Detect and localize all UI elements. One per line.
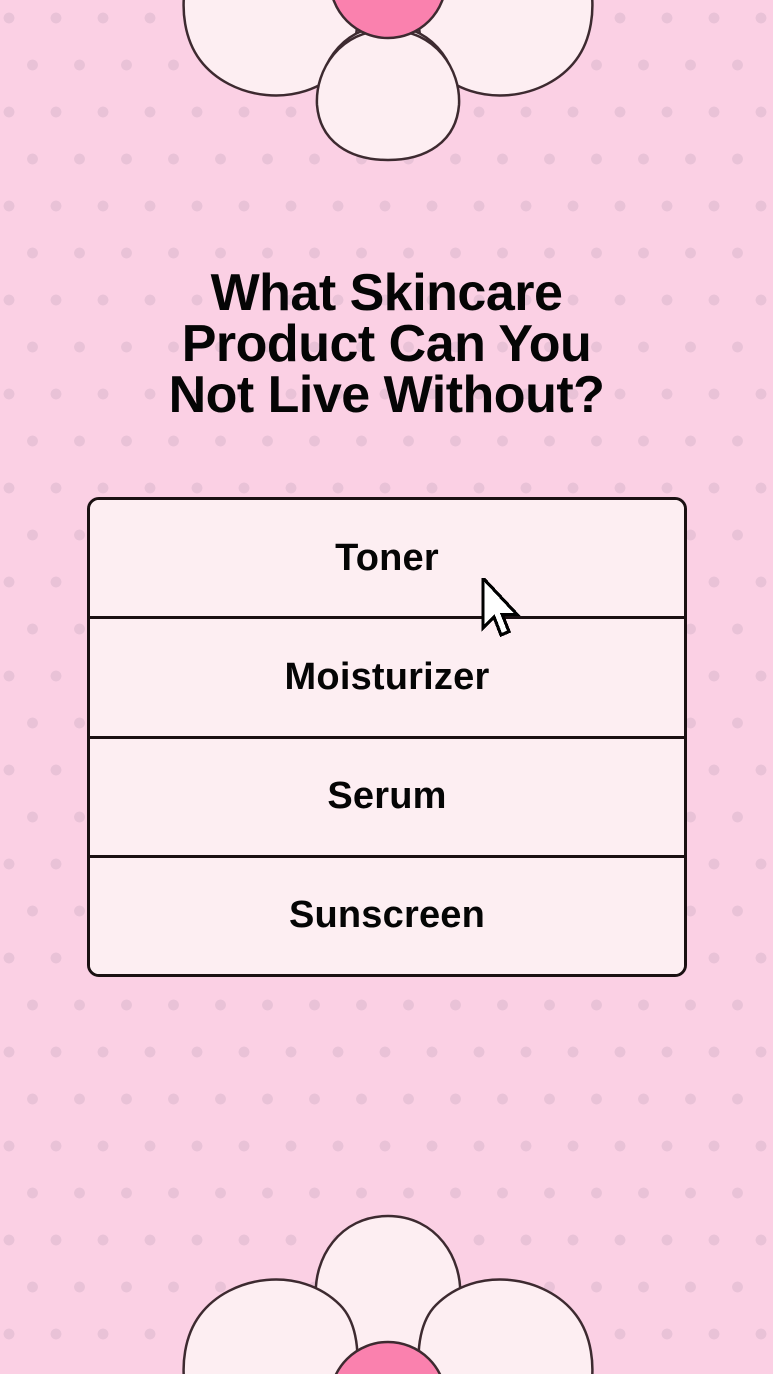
poll-options-card: Toner Moisturizer Serum Sunscreen [87,497,687,977]
question-line-3: Not Live Without? [40,370,733,421]
poll-option-sunscreen[interactable]: Sunscreen [90,858,684,974]
poll-option-moisturizer[interactable]: Moisturizer [90,619,684,738]
poll-option-label: Sunscreen [289,894,485,937]
question-title: What Skincare Product Can You Not Live W… [0,268,773,421]
question-line-1: What Skincare [40,268,733,319]
poll-option-toner[interactable]: Toner [90,500,684,619]
question-line-2: Product Can You [40,319,733,370]
bottom-flower-icon [184,1216,593,1374]
poll-option-label: Serum [327,775,446,818]
top-flower-icon [184,0,593,160]
poll-option-label: Toner [335,537,439,580]
poll-screen: What Skincare Product Can You Not Live W… [0,0,773,1374]
poll-option-serum[interactable]: Serum [90,739,684,858]
poll-option-label: Moisturizer [285,656,490,699]
